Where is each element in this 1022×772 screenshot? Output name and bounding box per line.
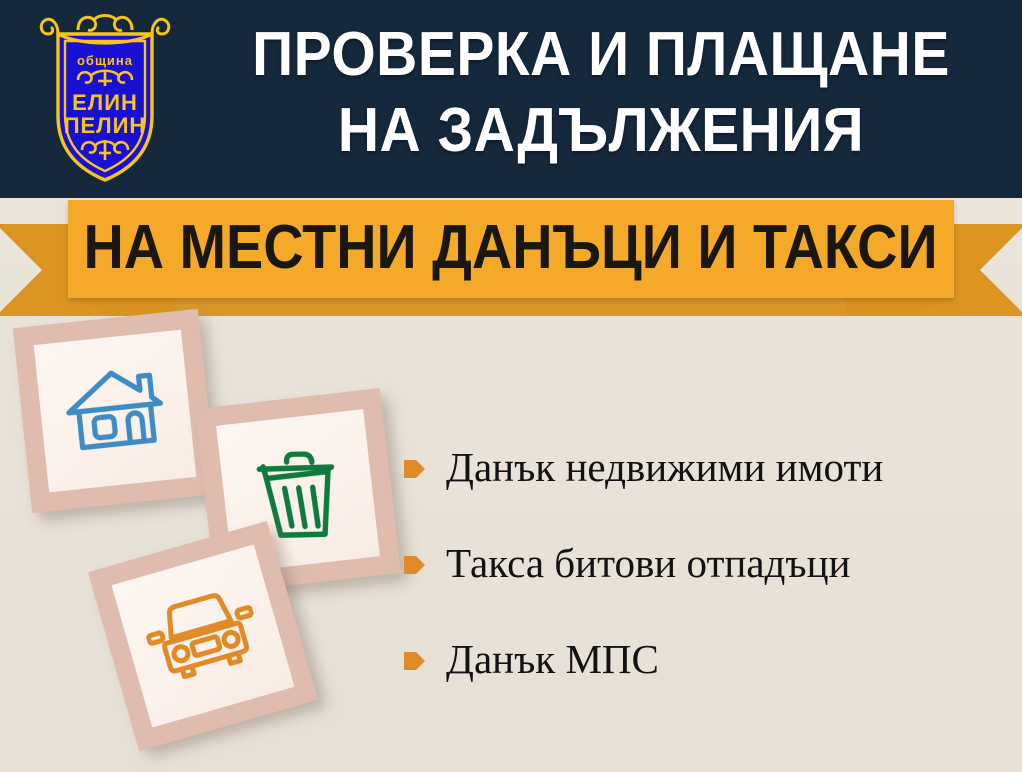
arrow-bullet-icon bbox=[404, 649, 426, 673]
house-icon bbox=[58, 359, 171, 463]
stamp-inner-house bbox=[34, 330, 197, 493]
page-title-line-1: ПРОВЕРКА И ПЛАЩАНЕ bbox=[219, 24, 983, 86]
header-title-block: ПРОВЕРКА И ПЛАЩАНЕ НА ЗАДЪЛЖЕНИЯ bbox=[186, 12, 1016, 162]
tax-type-list: Данък недвижими имоти Такса битови отпад… bbox=[404, 420, 1014, 708]
list-item[interactable]: Данък недвижими имоти bbox=[404, 420, 1014, 516]
poster-canvas: община ЕЛИН ПЕЛИН bbox=[0, 0, 1022, 772]
list-item-label: Такса битови отпадъци bbox=[446, 542, 850, 585]
svg-text:община: община bbox=[77, 53, 133, 68]
municipality-crest-logo: община ЕЛИН ПЕЛИН bbox=[34, 8, 176, 190]
list-item-label: Данък МПС bbox=[446, 638, 659, 681]
ribbon-text: НА МЕСТНИ ДАНЪЦИ И ТАКСИ bbox=[84, 217, 938, 281]
stamp-card-house bbox=[13, 309, 217, 513]
car-icon bbox=[138, 580, 267, 693]
svg-text:ЕЛИН: ЕЛИН bbox=[72, 90, 138, 115]
list-item-label: Данък недвижими имоти bbox=[446, 446, 883, 489]
page-title-line-2: НА ЗАДЪЛЖЕНИЯ bbox=[219, 100, 983, 162]
header-banner: община ЕЛИН ПЕЛИН bbox=[0, 0, 1022, 198]
list-item[interactable]: Такса битови отпадъци bbox=[404, 516, 1014, 612]
arrow-bullet-icon bbox=[404, 457, 426, 481]
svg-text:ПЕЛИН: ПЕЛИН bbox=[64, 113, 147, 138]
subtitle-ribbon: НА МЕСТНИ ДАНЪЦИ И ТАКСИ bbox=[0, 198, 1022, 316]
ribbon-body: НА МЕСТНИ ДАНЪЦИ И ТАКСИ bbox=[68, 200, 954, 298]
arrow-bullet-icon bbox=[404, 553, 426, 577]
list-item[interactable]: Данък МПС bbox=[404, 612, 1014, 708]
